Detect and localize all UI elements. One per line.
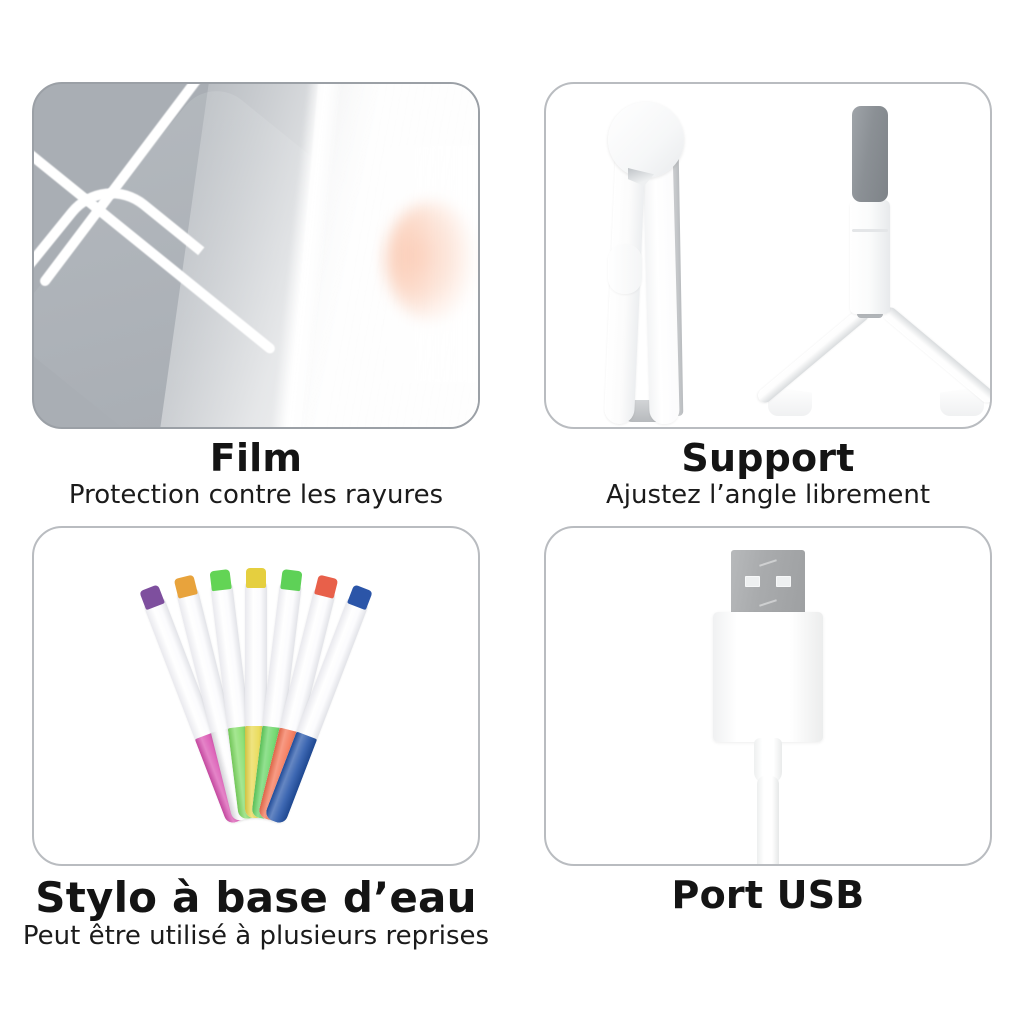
yellow-pen-cap bbox=[246, 568, 266, 588]
stand-post-seam bbox=[852, 229, 888, 232]
panel-film: Film Protection contre les rayures bbox=[0, 0, 512, 512]
pens-subtitle: Peut être utilisé à plusieurs reprises bbox=[23, 923, 489, 950]
folded-stand-pivot bbox=[608, 102, 684, 178]
film-photo bbox=[32, 82, 480, 429]
support-title: Support bbox=[606, 439, 930, 479]
usb-caption: Port USB bbox=[672, 866, 865, 916]
usb-title: Port USB bbox=[672, 876, 865, 916]
lime-pen-cap bbox=[210, 569, 232, 591]
support-caption: Support Ajustez l’angle librement bbox=[606, 429, 930, 509]
support-subtitle: Ajustez l’angle librement bbox=[606, 482, 930, 509]
panel-support: Support Ajustez l’angle librement bbox=[512, 0, 1024, 512]
usb-contact-slot-right bbox=[776, 576, 791, 587]
usb-shield-score-bottom bbox=[759, 599, 777, 606]
folded-stand bbox=[590, 102, 730, 422]
stand-leg-left bbox=[755, 305, 871, 406]
stand-post bbox=[850, 200, 890, 314]
usb-shield-score-top bbox=[759, 559, 777, 566]
film-veil bbox=[382, 144, 478, 384]
green-pen-cap bbox=[280, 569, 302, 591]
unfolded-stand bbox=[756, 96, 992, 424]
support-photo bbox=[544, 82, 992, 429]
usb-illustration bbox=[546, 528, 990, 864]
film-title: Film bbox=[69, 439, 443, 479]
pens-illustration bbox=[34, 528, 478, 864]
folded-stand-tab bbox=[608, 244, 642, 294]
stand-leg-right bbox=[881, 305, 992, 406]
usb-cable bbox=[757, 776, 779, 866]
pens-caption: Stylo à base d’eau Peut être utilisé à p… bbox=[23, 866, 489, 950]
stand-rubber-pad bbox=[852, 106, 888, 202]
film-illustration bbox=[34, 84, 478, 427]
usb-contact-slot-left bbox=[745, 576, 760, 587]
panel-usb: Port USB bbox=[512, 512, 1024, 1024]
stand-illustration bbox=[546, 84, 990, 427]
feature-grid: Film Protection contre les rayures bbox=[0, 0, 1024, 1024]
infographic-sheet: Film Protection contre les rayures bbox=[0, 0, 1024, 1024]
pens-photo bbox=[32, 526, 480, 866]
film-subtitle: Protection contre les rayures bbox=[69, 482, 443, 509]
pens-title: Stylo à base d’eau bbox=[23, 876, 489, 920]
panel-pens: Stylo à base d’eau Peut être utilisé à p… bbox=[0, 512, 512, 1024]
usb-photo bbox=[544, 526, 992, 866]
film-caption: Film Protection contre les rayures bbox=[69, 429, 443, 509]
usb-metal-shield bbox=[731, 550, 805, 616]
usb-plastic-housing bbox=[713, 612, 823, 742]
